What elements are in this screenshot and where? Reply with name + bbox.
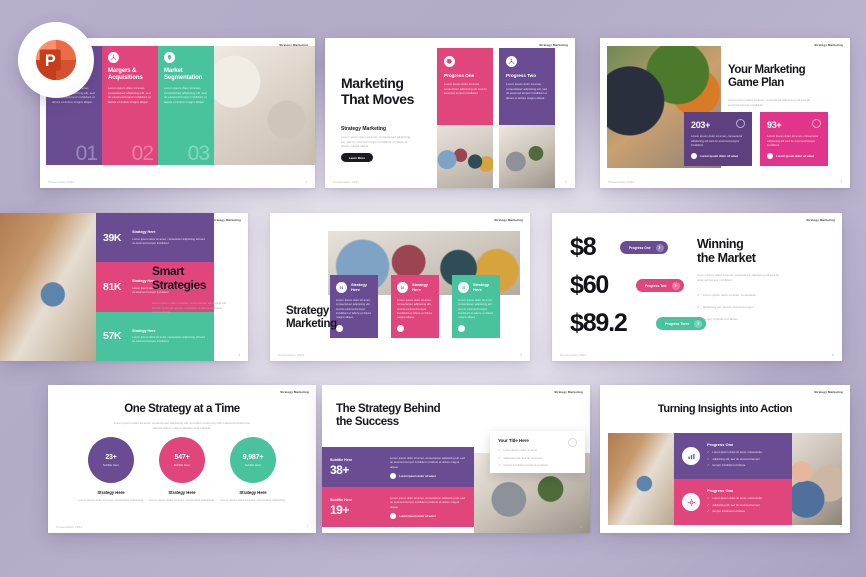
card-body: Lorem ipsum dolor sit amet, consectetuer… [458, 298, 494, 320]
page-title: One Strategy at a Time [48, 403, 316, 416]
slide-page-number: 2 [565, 180, 567, 184]
two-men-talking-photo [784, 433, 842, 525]
popup-item-label: adipiscing elit, sed do eiusmod [503, 456, 541, 460]
stat-body: Lorem ipsum dolor sit amet, consectetuer… [390, 456, 466, 469]
man-presenting-brick-room-photo [608, 433, 674, 525]
bullet-dot-icon [390, 513, 396, 519]
feature-card-body: Lorem ipsum dolor sit amet, consectetuer… [108, 86, 153, 105]
progress-pill-label: Progress Two [645, 284, 667, 288]
card-number: 01 [340, 286, 344, 290]
learn-more-button[interactable]: Learn More [341, 153, 373, 162]
stat-circle: 547+ Subtitle Here [159, 437, 205, 483]
slide-winning-the-market[interactable]: Strategy Marketing $8 $60 $89.2 Progress… [552, 213, 842, 361]
stat-heading: Strategy Here [216, 490, 290, 495]
progress-card-body: Lorem ipsum dolor sit amet, consectetur … [444, 82, 487, 96]
stat-label: Strategy Here [132, 329, 207, 333]
stat-body: Lorem ipsum dolor sit amet, consectetur … [691, 134, 745, 148]
arrow-right-icon [672, 282, 680, 290]
bullet-label: tempor incididunt ut labore [712, 463, 745, 467]
slide-one-strategy-at-a-time[interactable]: Strategy Marketing One Strategy at a Tim… [48, 385, 316, 533]
stat-circle: 9,987+ Subtitle Here [230, 437, 276, 483]
card-title: StrategyHere [351, 282, 367, 292]
bullet-item: ✓tempor incididunt ut labore [697, 317, 738, 321]
feature-card-number: 02 [132, 143, 153, 164]
slide-smart-strategies[interactable]: Strategy Marketing 39K Strategy Here Lor… [0, 213, 248, 361]
card-number: 03 [462, 286, 466, 290]
progress-band[interactable]: Progress One ✓Lorem ipsum dolor sit amet… [674, 433, 792, 479]
stat-column[interactable]: 9,987+ Subtitle Here Strategy Here Lorem… [216, 437, 290, 503]
stat-body: Lorem ipsum dolor sit amet, consectetur … [145, 498, 219, 503]
check-icon: ✓ [697, 317, 700, 321]
popup-item: ✓adipiscing elit, sed do eiusmod [498, 456, 577, 460]
page-title-line1: The Strategy Behind [336, 403, 440, 416]
slide-gallery: P Strategy Marketing Blue Ocean Strategy… [0, 0, 866, 577]
card-title: StrategyHere [473, 282, 489, 292]
card-body: Lorem ipsum dolor sit amet, consectetuer… [397, 298, 433, 320]
slide-strategy-marketing[interactable]: Strategy Marketing 01 StrategyHere Lorem… [270, 213, 530, 361]
bullet-dot-icon [397, 325, 404, 332]
check-circle-icon [736, 119, 745, 128]
page-title: Turning Insights into Action [600, 403, 850, 415]
gear-icon [682, 493, 700, 511]
bullet-dot-icon [767, 153, 773, 159]
slide-page-number: 4 [238, 353, 240, 357]
progress-pill[interactable]: Progress One [620, 241, 668, 254]
slide-watermark: Strategy Marketing [280, 390, 309, 394]
svg-text:P: P [45, 52, 56, 70]
bullet-dot-icon [691, 153, 697, 159]
page-title: Smart Strategies [152, 265, 206, 292]
feature-card-body: Lorem ipsum dolor sit amet, consectetuer… [164, 86, 209, 105]
check-icon: ✓ [707, 450, 709, 454]
slide-page-number: 8 [580, 525, 582, 529]
slide-marketing-that-moves[interactable]: Strategy Marketing Marketing That Moves … [325, 38, 575, 188]
popup-title: Your Title Here [498, 438, 577, 443]
powerpoint-glyph: P [33, 37, 79, 83]
page-body: Lorem ipsum dolor sit amet, consectetur … [697, 273, 783, 282]
card-number-badge: 03 [458, 282, 469, 293]
check-icon: ✓ [498, 456, 500, 460]
slide-watermark: Strategy Marketing [814, 43, 843, 47]
check-icon: ✓ [697, 293, 700, 297]
stat-card[interactable]: 203+ Lorem ipsum dolor sit amet, consect… [684, 112, 752, 166]
numbered-card[interactable]: 01 StrategyHere Lorem ipsum dolor sit am… [330, 275, 378, 338]
check-icon: ✓ [498, 448, 500, 452]
stat-bullet: Lorem ipsum dolor sit amet [691, 153, 738, 159]
progress-pill-label: Progress One [629, 246, 651, 250]
slide-footer: Presentation 2023 [333, 180, 359, 184]
page-body: Lorem ipsum dolor sit amet, consectetuer… [152, 301, 230, 315]
check-icon: ✓ [707, 457, 709, 461]
check-icon: ✓ [707, 496, 709, 500]
team-meeting-photo [437, 125, 493, 188]
stat-heading: Strategy Here [74, 490, 148, 495]
gear-icon [444, 56, 455, 67]
slide-footer: Presentation 2023 [560, 353, 586, 357]
slide-watermark: Strategy Marketing [494, 218, 523, 222]
check-icon: ✓ [707, 509, 709, 513]
stat-heading: Strategy Here [145, 490, 219, 495]
slide-footer: Presentation 2023 [48, 180, 74, 184]
slide-your-marketing-game-plan[interactable]: Strategy Marketing Your Marketing Game P… [600, 38, 850, 188]
chart-icon [682, 447, 700, 465]
progress-band-title: Progress One [707, 442, 762, 447]
bullet-dot-icon [390, 473, 396, 479]
bullet-item: ✓Lorem ipsum dolor sit amet, consectetur [697, 293, 756, 297]
check-circle-icon [812, 119, 821, 128]
page-title: The Strategy Behind the Success [336, 403, 440, 429]
feature-card[interactable]: Market Segmentation Lorem ipsum dolor si… [158, 46, 214, 165]
progress-pill[interactable]: Progress Two [636, 279, 684, 292]
page-body: Lorem ipsum dolor sit amet, consectetuer… [341, 135, 413, 149]
stat-subtitle: Subtitle Here [174, 463, 190, 467]
bullet-item: ✓adipiscing elit, sed do eiusmod tempor [697, 305, 754, 309]
page-title: Marketing That Moves [341, 76, 414, 108]
slide-footer: Presentation 2023 [608, 180, 634, 184]
stat-bullet-label: Lorem ipsum dolor sit amet [399, 514, 436, 518]
page-body: Lorem ipsum dolor sit amet, consectetuer… [110, 421, 254, 430]
bullet-item: ✓adipiscing elit, sed do eiusmod tempor [707, 457, 762, 461]
bulb-icon [164, 52, 175, 63]
network-icon [108, 52, 119, 63]
check-icon: ✓ [697, 305, 700, 309]
page-title-line1: Marketing [341, 76, 414, 92]
page-title-line1: Strategy [286, 305, 337, 318]
slide-page-number: 6 [832, 353, 834, 357]
slide-watermark: Strategy Marketing [806, 218, 835, 222]
stat-value: 19+ [330, 504, 390, 516]
stat-body: Lorem ipsum dolor sit amet, consectetur … [216, 498, 290, 503]
stat-bullet: Lorem ipsum dolor sit amet [390, 513, 436, 519]
stat-subtitle: Subtitle Here [103, 463, 119, 467]
progress-band-title: Progress One [707, 488, 762, 493]
stat-bullet-label: Lorem ipsum dolor sit amet [776, 154, 814, 158]
bullet-label: tempor incididunt ut labore [712, 509, 745, 513]
office-desk-hands-photo [214, 46, 315, 165]
page-title-line1: Your Marketing [728, 64, 805, 77]
page-title-line1: Smart [152, 265, 206, 279]
check-icon: ✓ [498, 463, 500, 467]
feature-card[interactable]: Margers & Acquisitions Lorem ipsum dolor… [102, 46, 158, 165]
stat-body: Lorem ipsum dolor sit amet, consectetur … [132, 335, 207, 344]
slide-watermark: Strategy Marketing [539, 43, 568, 47]
slide-turning-insights-into-action[interactable]: Strategy Marketing Turning Insights into… [600, 385, 850, 533]
slide-watermark: Strategy Marketing [212, 218, 241, 222]
stat-value: 547+ [175, 454, 190, 461]
stat-subtitle: Subtitle Here [330, 458, 390, 462]
office-desk-photo [499, 125, 555, 188]
bullet-item: ✓Lorem ipsum dolor sit amet, consectetur [707, 450, 762, 454]
stat-bullet-label: Lorem ipsum dolor sit amet [399, 474, 436, 478]
check-icon: ✓ [707, 503, 709, 507]
slide-the-strategy-behind-the-success[interactable]: Strategy Marketing The Strategy Behind t… [322, 385, 590, 533]
stat-band[interactable]: 57K Strategy Here Lorem ipsum dolor sit … [96, 312, 214, 361]
popup-item-label: Lorem ipsum dolor sit amet [503, 448, 537, 452]
feature-card-number: 01 [76, 143, 97, 164]
bullet-item: ✓adipiscing elit, sed do eiusmod tempor [707, 503, 762, 507]
bullet-item: ✓Lorem ipsum dolor sit amet, consectetur [707, 496, 762, 500]
numbered-card[interactable]: 02 StrategyHere Lorem ipsum dolor sit am… [391, 275, 439, 338]
page-body: Lorem ipsum dolor sit amet, consectetur … [728, 98, 820, 107]
price-value: $89.2 [570, 311, 627, 336]
progress-card-title: Progress Two [506, 73, 549, 78]
bullet-label: adipiscing elit, sed do eiusmod tempor [712, 457, 760, 461]
stat-column[interactable]: 547+ Subtitle Here Strategy Here Lorem i… [145, 437, 219, 503]
feature-card-title: Margers & Acquisitions [108, 68, 153, 82]
stat-bullet: Lorem ipsum dolor sit amet [390, 473, 436, 479]
stat-subtitle: Subtitle Here [330, 498, 390, 502]
price-value: $8 [570, 235, 595, 260]
stat-body: Lorem ipsum dolor sit amet, consectetuer… [390, 496, 466, 509]
page-title-line2: Game Plan [728, 77, 805, 90]
page-subtitle: Strategy Marketing [341, 126, 386, 132]
slide-page-number: 3 [840, 180, 842, 184]
bullet-item: ✓tempor incididunt ut labore [707, 509, 762, 513]
slide-page-number: 9 [840, 525, 842, 529]
stat-body: Lorem ipsum dolor sit amet, consectetur … [132, 237, 207, 246]
bullet-item: ✓tempor incididunt ut labore [707, 463, 762, 467]
stat-label: Strategy Here [132, 230, 207, 234]
bullet-label: tempor incididunt ut labore [703, 317, 738, 321]
price-value: $60 [570, 273, 608, 298]
stat-band[interactable]: 39K Strategy Here Lorem ipsum dolor sit … [96, 213, 214, 262]
numbered-card[interactable]: 03 StrategyHere Lorem ipsum dolor sit am… [452, 275, 500, 338]
slide-footer: Presentation 2023 [56, 525, 82, 529]
page-title: Winning the Market [697, 237, 756, 265]
stat-circle: 23+ Subtitle Here [88, 437, 134, 483]
stat-body: Lorem ipsum dolor sit amet, consectetur … [767, 134, 821, 148]
stat-value: 81K [103, 281, 126, 293]
progress-card-title: Progress One [444, 73, 487, 78]
stat-card[interactable]: 93+ Lorem ipsum dolor sit amet, consecte… [760, 112, 828, 166]
bullet-dot-icon [458, 325, 465, 332]
stat-band[interactable]: Subtitle Here 38+ Lorem ipsum dolor sit … [322, 447, 474, 487]
card-title: StrategyHere [412, 282, 428, 292]
progress-band[interactable]: Progress One ✓Lorem ipsum dolor sit amet… [674, 479, 792, 525]
card-number-badge: 01 [336, 282, 347, 293]
stat-value: 38+ [330, 464, 390, 476]
popup-item-label: tempor incididunt ut labore et dolore [503, 463, 548, 467]
stat-value: 9,987+ [243, 454, 263, 461]
slide-page-number: 7 [306, 525, 308, 529]
progress-pill-label: Progress Three [665, 322, 689, 326]
stat-bullet: Lorem ipsum dolor sit amet [767, 153, 814, 159]
card-number: 02 [401, 286, 405, 290]
check-icon: ✓ [707, 463, 709, 467]
card-body: Lorem ipsum dolor sit amet, consectetuer… [336, 298, 372, 320]
arrow-right-icon [656, 244, 664, 252]
page-title: Strategy Marketing [286, 305, 337, 331]
progress-card[interactable]: Progress One Lorem ipsum dolor sit amet,… [437, 48, 493, 188]
popup-card[interactable]: Your Title Here ✓Lorem ipsum dolor sit a… [490, 431, 585, 473]
stat-subtitle: Subtitle Here [245, 463, 261, 467]
page-title: Your Marketing Game Plan [728, 64, 805, 90]
bullet-label: Lorem ipsum dolor sit amet, consectetur [712, 450, 762, 454]
network-icon [506, 56, 517, 67]
powerpoint-icon: P [18, 22, 94, 98]
page-title-line2: Strategies [152, 279, 206, 293]
bullet-label: adipiscing elit, sed do eiusmod tempor [703, 305, 754, 309]
popup-item: ✓Lorem ipsum dolor sit amet [498, 448, 577, 452]
stat-value: 39K [103, 232, 126, 244]
page-title-line2: the Market [697, 251, 756, 265]
bullet-dot-icon [336, 325, 343, 332]
stat-value: 23+ [105, 454, 116, 461]
stat-band[interactable]: Subtitle Here 19+ Lorem ipsum dolor sit … [322, 487, 474, 527]
stat-body: Lorem ipsum dolor sit amet, consectetur … [74, 498, 148, 503]
stat-column[interactable]: 23+ Subtitle Here Strategy Here Lorem ip… [74, 437, 148, 503]
stat-value: 57K [103, 330, 126, 342]
feature-card-title: Market Segmentation [164, 68, 209, 82]
slide-page-number: 5 [520, 353, 522, 357]
man-presenting-brick-room-photo [0, 213, 96, 361]
progress-card-body: Lorem ipsum dolor sit amet, consectetuer… [506, 82, 549, 100]
popup-item: ✓tempor incididunt ut labore et dolore [498, 463, 577, 467]
card-number-badge: 02 [397, 282, 408, 293]
bullet-label: adipiscing elit, sed do eiusmod tempor [712, 503, 760, 507]
bullet-label: Lorem ipsum dolor sit amet, consectetur [703, 293, 756, 297]
slide-footer: Presentation 2023 [278, 353, 304, 357]
slide-watermark: Strategy Marketing [814, 390, 843, 394]
slide-page-number: 1 [305, 180, 307, 184]
page-title-line2: Marketing [286, 318, 337, 331]
bullet-label: Lorem ipsum dolor sit amet, consectetur [712, 496, 762, 500]
page-title-line2: the Success [336, 416, 440, 429]
feature-card-number: 03 [188, 143, 209, 164]
stat-bullet-label: Lorem ipsum dolor sit amet [700, 154, 738, 158]
page-title-line1: Winning [697, 237, 756, 251]
page-title-line2: That Moves [341, 92, 414, 108]
check-circle-icon [568, 438, 577, 447]
progress-card[interactable]: Progress Two Lorem ipsum dolor sit amet,… [499, 48, 555, 188]
slide-watermark: Strategy Marketing [554, 390, 583, 394]
